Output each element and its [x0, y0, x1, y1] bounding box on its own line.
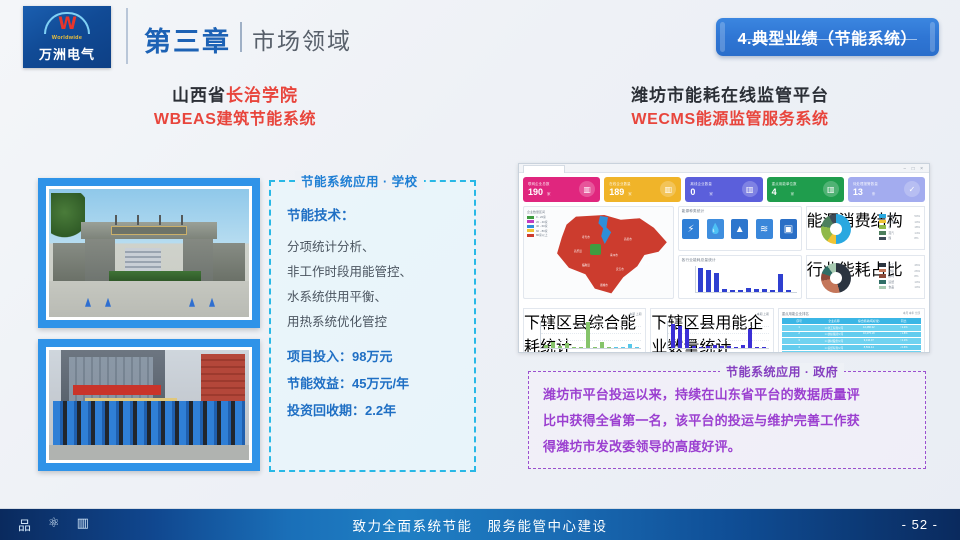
- right-info-legend: 节能系统应用 · 政府: [720, 363, 844, 380]
- kpi-value: 190: [528, 187, 543, 197]
- energy-type-title: 能源种类统计: [679, 207, 801, 214]
- map-region-label: 昌邑市: [624, 237, 632, 241]
- left-info-metric: 项目投入：98万元: [287, 343, 474, 370]
- county-enterprise-chart-panel: 下辖区县用能企业数量统计 本期 上期: [650, 308, 773, 353]
- kpi-card: 重点用能单位数 4 家 ▥: [767, 177, 844, 202]
- dashboard-middle-row: 企业数量区间 0 - 20家 20 - 40家 40 - 60家 60 - 80…: [523, 206, 925, 304]
- donut-legend: 化工46% 纺织26% 建材8% 造纸10% 食品10%: [879, 263, 920, 291]
- chart-plot-area: [667, 321, 768, 349]
- map-region-label: 临朐县: [582, 263, 590, 267]
- kpi-card: 在线企业数量 189 家 ▥: [604, 177, 681, 202]
- dashboard-body: 联网企业总数 190 家 ▥ 在线企业数量 189 家 ▥ 离线企业数量 0 家…: [519, 173, 929, 353]
- gas-icon[interactable]: ▲: [731, 219, 748, 239]
- table-controls[interactable]: 本月 本年 全部: [903, 311, 920, 315]
- left-info-item: 非工作时段用能管控、: [287, 260, 474, 285]
- chapter-subtitle: 市场领域: [252, 22, 352, 56]
- map-legend-item: 40 - 60家: [527, 224, 548, 228]
- chart-legend: 本期 上期: [629, 312, 641, 316]
- dashboard-donut-column: 能源消费结构 电力50% 天然气10% 水18% 蒸汽14% 煤8% 行业能耗占…: [806, 206, 925, 304]
- kpi-label: 重点用能单位数: [772, 181, 797, 186]
- table-row[interactable]: 4 ××造纸有限公司 8,562.44 ↓ 0.6%: [782, 345, 921, 351]
- table-column-header: 综合能耗(吨标煤): [851, 318, 886, 324]
- map-region-label: 青州市: [610, 253, 618, 257]
- kpi-label: 在线企业数量: [609, 181, 631, 186]
- kpi-label: 离线企业数量: [690, 181, 712, 186]
- dashboard-tabbar: − □ ×: [519, 164, 929, 173]
- map-legend-item: 20 - 40家: [527, 220, 548, 224]
- industry-ratio-donut[interactable]: [821, 263, 851, 293]
- table-column-header: 序号: [782, 318, 817, 324]
- industry-energy-title: 各行业能耗总量统计: [679, 256, 801, 263]
- topic-badge-label: 4.典型业绩（节能系统）: [738, 25, 917, 49]
- table-row[interactable]: 3 ××建材股份公司 9,134.07 ↑ 2.1%: [782, 338, 921, 344]
- left-title-line2: WBEAS建筑节能系统: [60, 108, 410, 132]
- map-legend-item: 0 - 20家: [527, 215, 548, 219]
- bar-chart-icon: ▥: [823, 181, 839, 197]
- kpi-unit: 条: [872, 192, 876, 197]
- kpi-value: 13: [853, 187, 863, 197]
- right-title-line2: WECMS能源监管服务系统: [520, 108, 940, 132]
- map-region-label: 寿光市: [582, 235, 590, 239]
- map-region-label: 高密市: [642, 261, 650, 265]
- check-circle-icon: ✓: [904, 181, 920, 197]
- logo-emblem-icon: W: [44, 12, 90, 34]
- slide-header: W Worldwide 万洲电气 第三章 市场领域 4.典型业绩（节能系统）: [0, 0, 960, 72]
- map-legend-item: 80家以上: [527, 233, 548, 237]
- kpi-value: 4: [772, 187, 777, 197]
- kpi-card: 待处理报警数量 13 条 ✓: [848, 177, 925, 202]
- right-info-line: 潍坊市平台投运以来，持续在山东省平台的数据质量评: [543, 382, 911, 408]
- chart-legend: 本期 上期: [757, 312, 769, 316]
- industry-energy-chart: [695, 266, 797, 293]
- map-legend: 企业数量区间 0 - 20家 20 - 40家 40 - 60家 60 - 80…: [527, 210, 548, 238]
- energy-structure-donut[interactable]: [821, 214, 851, 244]
- donut-legend: 电力50% 天然气10% 水18% 蒸汽14% 煤8%: [879, 214, 920, 242]
- map-legend-title: 企业数量区间: [527, 210, 548, 214]
- left-info-legend: 节能系统应用 · 学校: [295, 171, 424, 190]
- electricity-icon[interactable]: ⚡: [682, 219, 699, 239]
- dashboard-bottom-row: 下辖区县综合能耗统计 本期 上期: [523, 308, 925, 353]
- chapter-title: 第三章: [144, 20, 231, 59]
- page-number: - 52 -: [902, 517, 938, 532]
- region-map-panel: 企业数量区间 0 - 20家 20 - 40家 40 - 60家 60 - 80…: [523, 206, 674, 299]
- bar-chart-icon: ▥: [742, 181, 758, 197]
- kpi-value: 189: [609, 187, 624, 197]
- heat-icon[interactable]: ≋: [756, 219, 773, 239]
- left-info-item: 水系统供用平衡、: [287, 285, 474, 310]
- table-row[interactable]: 5 ××食品有限公司 7,318.95 ↑ 1.4%: [782, 351, 921, 353]
- right-section-title: 潍坊市能耗在线监管平台 WECMS能源监管服务系统: [520, 84, 940, 132]
- chapter-separator: [240, 22, 242, 52]
- ceremony-photo: [38, 339, 260, 471]
- kpi-card-row: 联网企业总数 190 家 ▥ 在线企业数量 189 家 ▥ 离线企业数量 0 家…: [523, 177, 925, 202]
- dashboard-screenshot: − □ × 联网企业总数 190 家 ▥ 在线企业数量 189 家 ▥ 离线企业…: [518, 163, 930, 353]
- table-column-header: 企业名称: [817, 318, 852, 324]
- kpi-unit: 家: [791, 192, 795, 197]
- map-legend-item: 60 - 80家: [527, 229, 548, 233]
- right-info-box: 潍坊市平台投运以来，持续在山东省平台的数据质量评 比中获得全省第一名，该平台的投…: [528, 371, 926, 469]
- left-info-box: 节能技术： 分项统计分析、 非工作时段用能管控、 水系统供用平衡、 用热系统优化…: [269, 180, 476, 472]
- energy-type-panel: 能源种类统计 ⚡ 💧 ▲ ≋ ▣: [678, 206, 802, 251]
- map-region-label: 安丘市: [616, 267, 624, 271]
- table-header-row: 序号 企业名称 综合能耗(吨标煤) 同比: [782, 318, 921, 324]
- header-divider: [126, 8, 128, 64]
- kpi-unit: 家: [709, 192, 713, 197]
- map-region-label: 昌乐县: [574, 249, 582, 253]
- coal-icon[interactable]: ▣: [780, 219, 797, 239]
- top-enterprise-table-panel: 重点用能企业排名 本月 本年 全部 序号 企业名称 综合能耗(吨标煤) 同比 1…: [778, 308, 925, 353]
- photo-image-gate: [49, 189, 249, 317]
- right-info-line: 得潍坊市发改委领导的高度好评。: [543, 434, 911, 460]
- photo-mat: [46, 186, 252, 320]
- photo-image-ceremony: [49, 350, 249, 460]
- left-info-item: 用热系统优化管控: [287, 310, 474, 335]
- left-title-province: 山西省: [172, 86, 226, 105]
- industry-energy-panel: 各行业能耗总量统计: [678, 255, 802, 299]
- kpi-value: 0: [690, 187, 695, 197]
- table-column-header: 同比: [886, 318, 921, 324]
- left-title-school: 长治学院: [226, 86, 298, 105]
- dashboard-tab: [523, 165, 565, 173]
- left-title-line1: 山西省长治学院: [60, 84, 410, 108]
- kpi-unit: 家: [628, 192, 632, 197]
- left-info-heading: 节能技术：: [287, 204, 474, 224]
- right-info-line: 比中获得全省第一名，该平台的投运与维护完善工作获: [543, 408, 911, 434]
- footer-slogan: 致力全面系统节能 服务能管中心建设: [0, 515, 960, 535]
- company-logo: W Worldwide 万洲电气: [23, 6, 111, 68]
- kpi-label: 联网企业总数: [528, 181, 550, 186]
- left-info-metric: 投资回收期：2.2年: [287, 397, 474, 424]
- window-controls: − □ ×: [903, 166, 925, 172]
- slide-footer: 品 ⚛ ▥ 致力全面系统节能 服务能管中心建设 - 52 -: [0, 509, 960, 540]
- dashboard-center-column: 能源种类统计 ⚡ 💧 ▲ ≋ ▣ 各行业能耗总量统计: [678, 206, 802, 304]
- kpi-card: 联网企业总数 190 家 ▥: [523, 177, 600, 202]
- right-title-line1: 潍坊市能耗在线监管平台: [520, 84, 940, 108]
- kpi-card: 离线企业数量 0 家 ▥: [685, 177, 762, 202]
- photo-mat: [46, 347, 252, 463]
- table-row[interactable]: 2 ××纺织集团公司 10,275.18 ↓ 1.8%: [782, 332, 921, 338]
- map-region-shape[interactable]: [550, 215, 668, 295]
- industry-ratio-donut-panel: 行业能耗占比 化工46% 纺织26% 建材8% 造纸10% 食品10%: [806, 255, 925, 299]
- bar-chart-icon: ▥: [579, 181, 595, 197]
- logo-chinese: 万洲电气: [39, 44, 95, 63]
- left-info-item: 分项统计分析、: [287, 235, 474, 260]
- county-energy-chart-panel: 下辖区县综合能耗统计 本期 上期: [523, 308, 646, 353]
- topic-badge: 4.典型业绩（节能系统）: [716, 18, 939, 56]
- energy-structure-donut-panel: 能源消费结构 电力50% 天然气10% 水18% 蒸汽14% 煤8%: [806, 206, 925, 250]
- chart-plot-area: [540, 321, 641, 349]
- table-row[interactable]: 1 ××化工有限公司 12,486.32 ↑ 3.2%: [782, 325, 921, 331]
- map-region-center[interactable]: [590, 244, 601, 255]
- left-info-metric: 节能效益：45万元/年: [287, 370, 474, 397]
- kpi-unit: 家: [547, 192, 551, 197]
- logo-letter: W: [44, 14, 90, 34]
- map-region-label: 诸城市: [600, 283, 608, 287]
- logo-english: Worldwide: [52, 35, 82, 41]
- bar-chart-icon: ▥: [660, 181, 676, 197]
- left-section-title: 山西省长治学院 WBEAS建筑节能系统: [60, 84, 410, 132]
- campus-gate-photo: [38, 178, 260, 328]
- kpi-label: 待处理报警数量: [853, 181, 878, 186]
- water-drop-icon[interactable]: 💧: [707, 219, 724, 239]
